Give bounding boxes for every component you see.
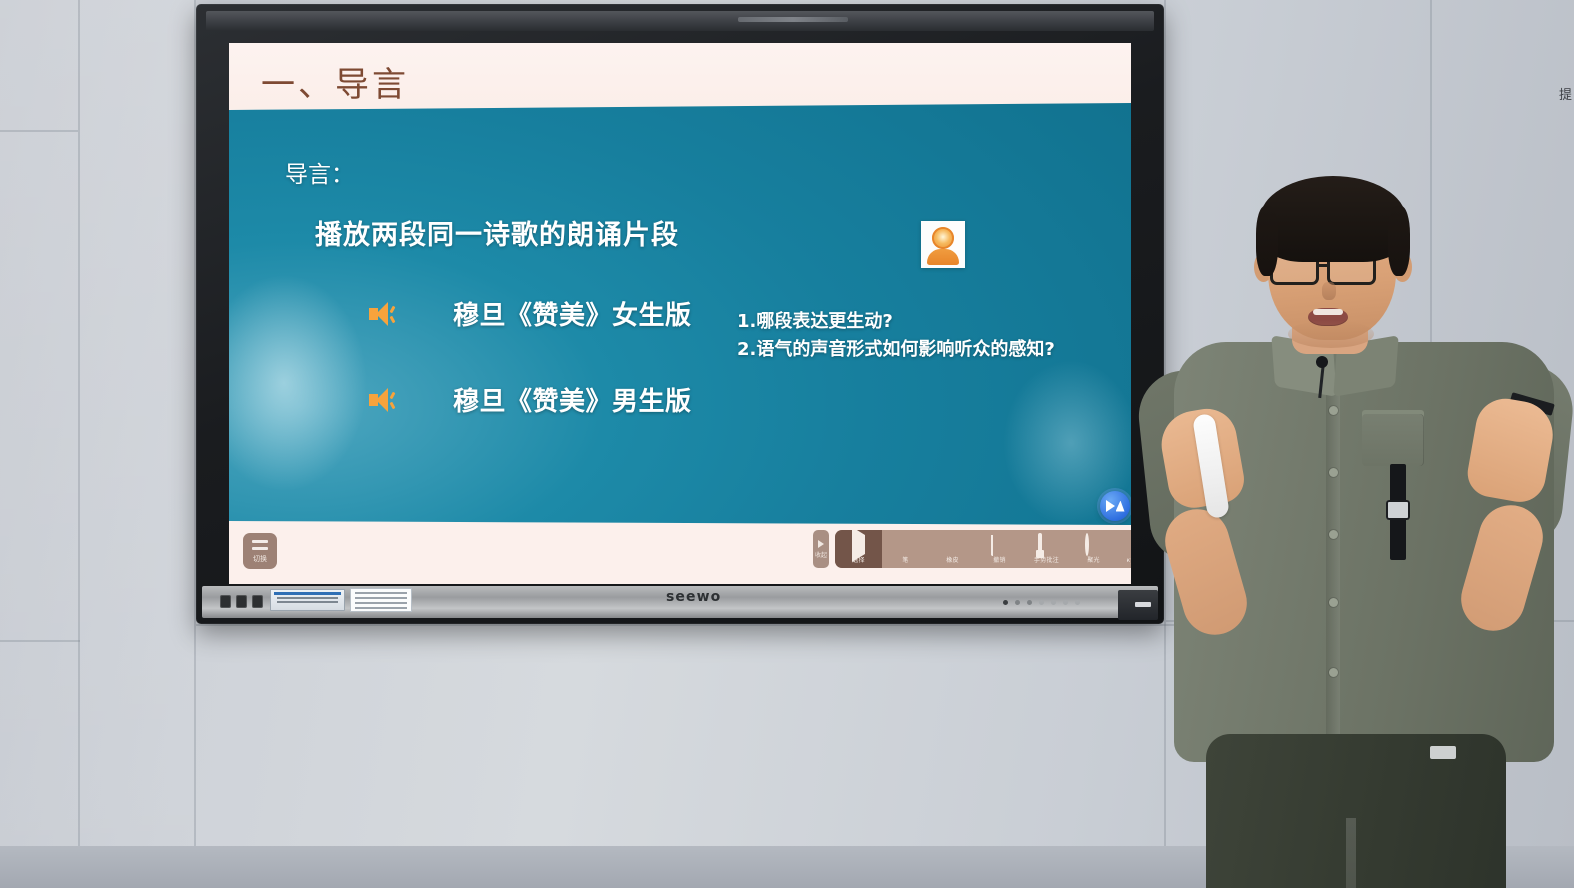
bezel-button[interactable]: [1075, 600, 1080, 605]
tool-cluster[interactable]: 收起 选择 笔 橡皮: [813, 530, 1131, 568]
slide-body: 导言： 播放两段同一诗歌的朗诵片段 穆旦《赞美》女生版 穆旦《赞美》男生版 1.…: [229, 103, 1131, 525]
shirt-button: [1329, 406, 1338, 415]
shirt-button: [1329, 468, 1338, 477]
chin-shadow: [1288, 320, 1374, 348]
seewo-toolbar[interactable]: 切换 收起 选择 笔: [229, 526, 1131, 584]
tool-pen[interactable]: 笔: [882, 530, 929, 568]
hair: [1260, 176, 1406, 262]
swap-source-button[interactable]: 切换: [243, 533, 277, 569]
wall-seam: [196, 624, 1176, 626]
avatar-torso: [927, 249, 959, 265]
bottom-bezel: seewo: [202, 586, 1158, 618]
lead-subtitle: 播放两段同一诗歌的朗诵片段: [315, 213, 679, 252]
eyeglasses-bridge: [1319, 264, 1329, 267]
shirt-placket: [1326, 374, 1340, 762]
tool-eraser[interactable]: 橡皮: [929, 530, 976, 568]
wall-panel: [78, 0, 196, 888]
bezel-buttons[interactable]: [1003, 600, 1080, 605]
camera-sensor-strip: [738, 17, 848, 22]
power-button[interactable]: [1003, 600, 1008, 605]
hair-side-right: [1388, 206, 1410, 276]
wall-panel: [0, 0, 78, 888]
device-label: [350, 588, 412, 612]
brand-logo: seewo: [666, 589, 721, 605]
bezel-button[interactable]: [1015, 600, 1020, 605]
tool-label: 橡皮: [946, 555, 959, 564]
audio-item-female[interactable]: 穆旦《赞美》女生版: [369, 295, 692, 332]
wall-seam: [0, 130, 78, 132]
audio-item-label: 穆旦《赞美》女生版: [453, 295, 692, 332]
wall-seam: [0, 640, 80, 642]
tool-label: 笔: [902, 555, 908, 564]
cursor-icon: [850, 535, 867, 552]
interactive-display[interactable]: 一、导言 导言： 播放两段同一诗歌的朗诵片段 穆旦《赞美》女生版 穆旦《赞美: [196, 4, 1164, 624]
bezel-button[interactable]: [1027, 600, 1032, 605]
shirt-hem-logo: [1430, 746, 1456, 759]
wall-seam: [78, 0, 80, 888]
person-avatar-icon: [921, 221, 965, 268]
pen-icon: [897, 535, 914, 552]
port[interactable]: [220, 595, 231, 608]
speaker-icon[interactable]: [369, 301, 399, 327]
ai-play-glyph: [1106, 500, 1115, 512]
pants-leg-seam: [1346, 818, 1356, 888]
speaker-icon[interactable]: [369, 387, 399, 413]
pants: [1206, 734, 1506, 888]
question-item: 1.哪段表达更生动?: [737, 308, 1055, 336]
bezel-button[interactable]: [1063, 600, 1068, 605]
chevron-right-icon: [818, 540, 824, 548]
collapse-toolbar-button[interactable]: 收起: [813, 530, 829, 568]
swap-button-label: 切换: [253, 554, 267, 564]
capture-icon: [1038, 535, 1055, 552]
tool-label: 撤销: [993, 555, 1006, 564]
shirt-button: [1329, 530, 1338, 539]
port[interactable]: [252, 595, 263, 608]
presenter: [1150, 178, 1574, 888]
audio-item-label: 穆旦《赞美》男生版: [453, 381, 692, 418]
slide-canvas[interactable]: 一、导言 导言： 播放两段同一诗歌的朗诵片段 穆旦《赞美》女生版 穆旦《赞美: [229, 43, 1131, 584]
tool-buttons[interactable]: 选择 笔 橡皮 撤销: [835, 530, 1131, 568]
question-item: 2.语气的声音形式如何影响听众的感知?: [737, 336, 1055, 364]
slide-glow-right: [981, 333, 1131, 553]
shirt-pocket: [1362, 414, 1424, 466]
tool-capture[interactable]: 手势批注: [1023, 530, 1070, 568]
question-list: 1.哪段表达更生动? 2.语气的声音形式如何影响听众的感知?: [737, 308, 1055, 364]
nose: [1322, 282, 1336, 300]
device-sticker: [270, 589, 345, 611]
hair-side-left: [1256, 206, 1278, 276]
ai-play-icon[interactable]: [1100, 491, 1130, 521]
shirt-button: [1329, 598, 1338, 607]
bezel-button[interactable]: [1051, 600, 1056, 605]
swap-icon: [252, 539, 268, 551]
bezel-button[interactable]: [1039, 600, 1044, 605]
strap-buckle: [1386, 500, 1410, 520]
display-screen[interactable]: 一、导言 导言： 播放两段同一诗歌的朗诵片段 穆旦《赞美》女生版 穆旦《赞美: [229, 43, 1131, 584]
audio-item-male[interactable]: 穆旦《赞美》男生版: [369, 381, 692, 418]
tool-spotlight[interactable]: 聚光: [1070, 530, 1117, 568]
tool-label: 聚光: [1087, 555, 1100, 564]
collapse-button-label: 收起: [815, 550, 827, 559]
lead-label: 导言：: [285, 155, 354, 189]
slide-title: 一、导言: [261, 57, 409, 106]
tool-label: курс更多: [1126, 555, 1131, 564]
tool-undo[interactable]: 撤销: [976, 530, 1023, 568]
shirt-button: [1329, 668, 1338, 677]
undo-icon: [991, 535, 1008, 552]
circle-icon: [1085, 535, 1102, 552]
eraser-icon: [944, 535, 961, 552]
avatar-head: [932, 227, 954, 249]
edge-partial-character: 提: [1559, 84, 1572, 103]
port[interactable]: [236, 595, 247, 608]
io-ports[interactable]: [220, 595, 263, 608]
lapel-microphone: [1316, 356, 1328, 368]
tool-more[interactable]: курс更多: [1117, 530, 1131, 568]
top-bezel-strip: [206, 11, 1154, 31]
ai-mark-glyph: [1116, 501, 1125, 512]
tool-select[interactable]: 选择: [835, 530, 882, 568]
